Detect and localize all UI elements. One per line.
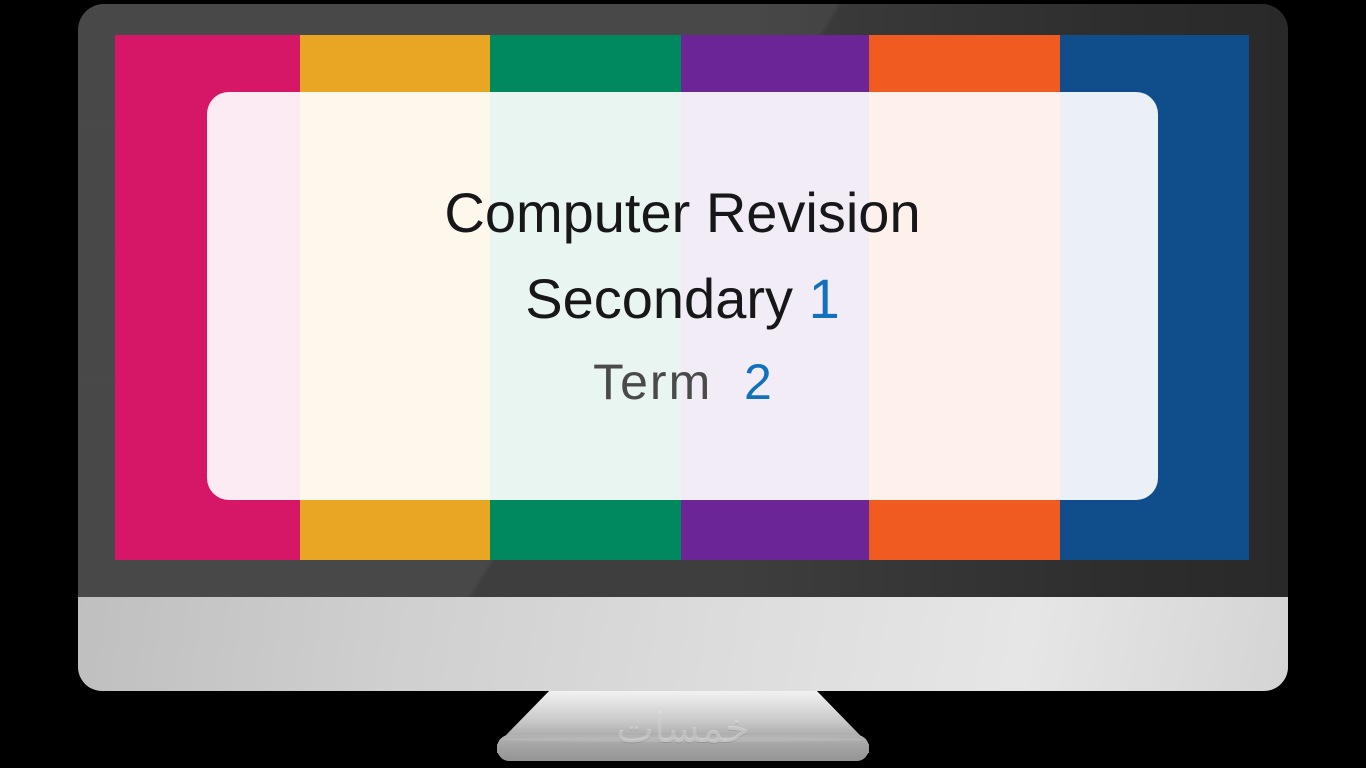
term-number: 2	[744, 354, 772, 410]
monitor-stand-foot	[497, 735, 869, 761]
slide-title-line-2: Secondary 1	[444, 271, 920, 327]
title-card: Computer Revision Secondary 1 Term 2	[207, 92, 1158, 500]
slide-title-line-1: Computer Revision	[444, 185, 920, 241]
grade-number: 1	[809, 267, 840, 330]
monitor-screen: Computer Revision Secondary 1 Term 2	[115, 35, 1249, 560]
slide-canvas: Computer Revision Secondary 1 Term 2 خمس…	[0, 0, 1366, 768]
term-label: Term	[593, 354, 712, 410]
title-block: Computer Revision Secondary 1 Term 2	[444, 185, 920, 407]
slide-title-line-3: Term 2	[444, 357, 920, 407]
monitor-base	[78, 597, 1288, 691]
grade-label: Secondary	[525, 267, 793, 330]
